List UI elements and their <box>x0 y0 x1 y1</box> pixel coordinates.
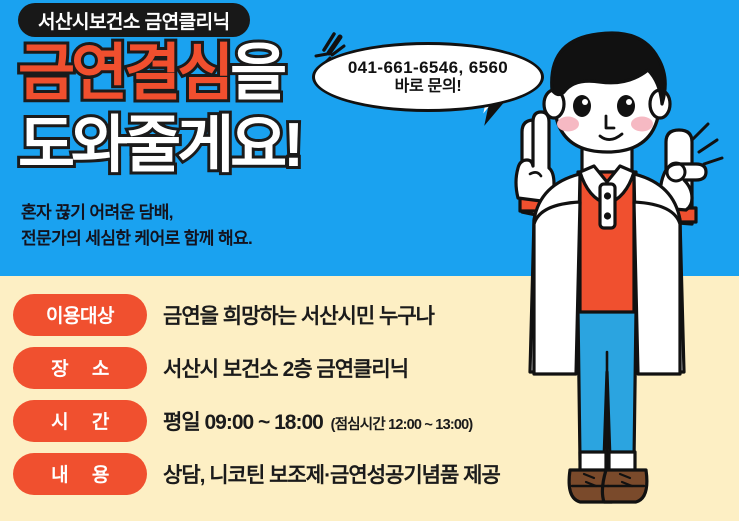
poster-root: 서산시보건소 금연클리닉 금연결심을 도와줄게요! 혼자 끊기 어려운 담배, … <box>0 0 739 521</box>
info-row: 이용대상 금연을 희망하는 서산시민 누구나 <box>0 288 739 341</box>
info-label-text: 시 간 <box>51 407 109 434</box>
info-value-text: 금연을 희망하는 서산시민 누구나 <box>163 300 437 330</box>
info-label-pill: 이용대상 <box>13 294 147 336</box>
info-value-main: 금연을 희망하는 서산시민 누구나 <box>163 305 434 328</box>
headline-line-2: 도와줄게요! <box>18 116 300 177</box>
clinic-badge: 서산시보건소 금연클리닉 <box>18 3 250 37</box>
info-label-text: 장 소 <box>51 354 109 381</box>
info-label-pill: 장 소 <box>13 347 147 389</box>
subtitle-line-1: 혼자 끊기 어려운 담배, <box>21 200 252 226</box>
subtitle-line-2: 전문가의 세심한 케어로 함께 해요. <box>21 226 252 252</box>
info-value-main: 상담, 니코틴 보조제·금연성공기념품 제공 <box>163 464 500 487</box>
info-value-text: 평일 09:00 ~ 18:00 (점심시간 12:00 ~ 13:00) <box>163 406 472 436</box>
speech-bubble-cta: 바로 문의! <box>395 77 462 96</box>
info-value-note: (점심시간 12:00 ~ 13:00) <box>331 417 473 433</box>
headline-line-1-orange: 금연결심 <box>18 39 230 108</box>
info-row: 내 용 상담, 니코틴 보조제·금연성공기념품 제공 <box>0 447 739 500</box>
headline-line-1-white: 을 <box>230 39 283 108</box>
info-value-text: 서산시 보건소 2층 금연클리닉 <box>163 353 411 383</box>
info-row: 장 소 서산시 보건소 2층 금연클리닉 <box>0 341 739 394</box>
info-label-pill: 시 간 <box>13 400 147 442</box>
info-value-main: 서산시 보건소 2층 금연클리닉 <box>163 358 408 381</box>
info-row: 시 간 평일 09:00 ~ 18:00 (점심시간 12:00 ~ 13:00… <box>0 394 739 447</box>
subtitle-block: 혼자 끊기 어려운 담배, 전문가의 세심한 케어로 함께 해요. <box>21 200 252 253</box>
info-label-text: 이용대상 <box>46 301 114 328</box>
info-value-text: 상담, 니코틴 보조제·금연성공기념품 제공 <box>163 459 503 489</box>
info-label-pill: 내 용 <box>13 453 147 495</box>
clinic-badge-label: 서산시보건소 금연클리닉 <box>38 7 230 34</box>
info-value-main: 평일 09:00 ~ 18:00 <box>163 411 323 434</box>
info-label-text: 내 용 <box>51 460 109 487</box>
info-list: 이용대상 금연을 희망하는 서산시민 누구나 장 소 서산시 보건소 2층 금연… <box>0 288 739 500</box>
headline-line-1: 금연결심을 <box>18 44 283 105</box>
headline-line-2-text: 도와줄게요! <box>18 111 300 180</box>
